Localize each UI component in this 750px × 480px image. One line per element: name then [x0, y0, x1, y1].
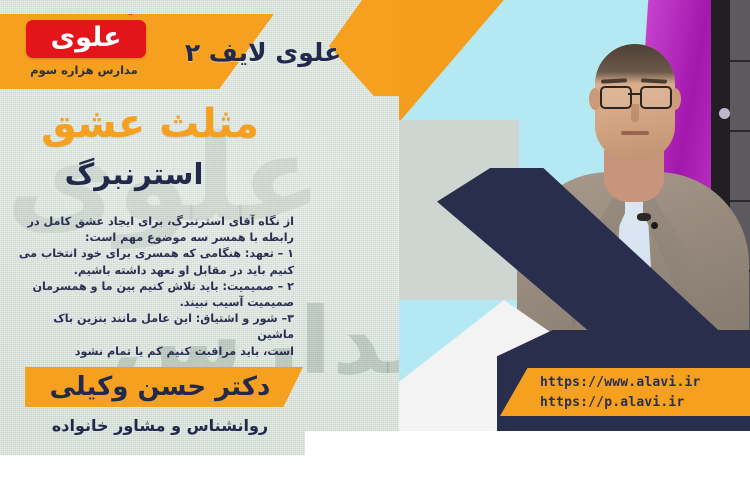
- studio-wall-line: [730, 200, 750, 202]
- logo-wordmark: علوی: [50, 24, 121, 55]
- presenter-nose: [631, 104, 639, 122]
- link-portal[interactable]: https://p.alavi.ir: [540, 393, 750, 413]
- bottom-white-strip: [0, 455, 750, 480]
- presenter-mouth: [621, 131, 649, 135]
- topic-title: مثلث عشق: [0, 104, 300, 144]
- presenter-role: روانشناس و مشاور خانواده: [20, 416, 300, 435]
- studio-wall-line: [730, 60, 750, 62]
- body-line-3: ۱ – تعهد: هنگامی که همسری برای خود انتخا…: [16, 246, 294, 262]
- logo-red-badge: ٓ علوی: [26, 20, 146, 58]
- body-line-1: از نگاه آقای استرنبرگ، برای ایجاد عشق کا…: [16, 214, 294, 230]
- presenter-name: دکتر حسن وکیلی: [25, 371, 295, 403]
- studio-light-dot: [719, 108, 730, 119]
- url-list: https://www.alavi.ir https://p.alavi.ir: [540, 373, 750, 413]
- presenter-lavalier-clip: [637, 213, 651, 221]
- body-line-7: ۳– شور و اشتیاق: این عامل مانند بنزین با…: [16, 311, 294, 343]
- body-line-6: صمیمیت آسیب نبیند.: [16, 295, 294, 311]
- alavi-logo: ٓ علوی مدارس هزاره سوم: [22, 20, 146, 84]
- presenter-glasses-left-lens: [600, 86, 632, 109]
- body-line-5: ۲ – صمیمیت: باید تلاش کنیم بین ما و همسر…: [16, 279, 294, 295]
- presenter-microphone: [651, 222, 658, 229]
- body-line-8: است، باید مراقبت کنیم کم یا تمام نشود: [16, 344, 294, 360]
- topic-subtitle: استرنبرگ: [0, 160, 268, 189]
- studio-wall-line: [730, 130, 750, 132]
- presenter-glasses-bridge: [628, 93, 640, 95]
- show-title: علوی لایف ۲: [178, 38, 348, 67]
- logo-tagline: مدارس هزاره سوم: [22, 63, 146, 77]
- body-line-4: کنیم باید در مقابل او تعهد داشته باشیم.: [16, 263, 294, 279]
- link-website[interactable]: https://www.alavi.ir: [540, 373, 750, 393]
- presenter-glasses-right-lens: [640, 86, 672, 109]
- body-text-block: از نگاه آقای استرنبرگ، برای ایجاد عشق کا…: [16, 214, 294, 360]
- poster-canvas: علوی مدارس ٓ علوی مدارس هزاره سوم علوی ل…: [0, 0, 750, 480]
- body-line-2: رابطه با همسر سه موضوع مهم است:: [16, 230, 294, 246]
